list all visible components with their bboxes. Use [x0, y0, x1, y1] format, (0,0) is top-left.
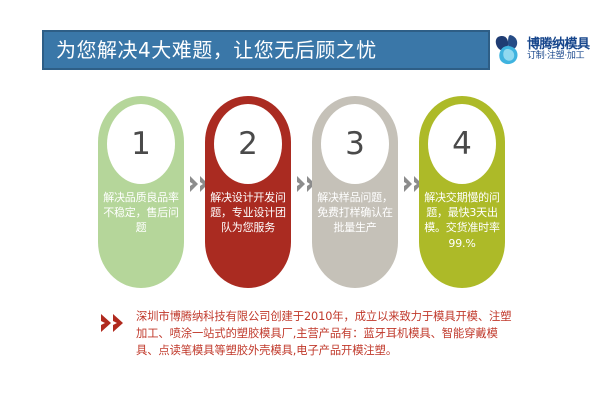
- step-pill-3: 3 解决样品问题，免费打样确认在批量生产: [312, 96, 398, 288]
- slide-canvas: 为您解决4大难题，让您无后顾之忧 博腾纳模具 订制·注塑·加工 1 解决品质良: [0, 0, 600, 400]
- double-chevron-right-icon: [100, 312, 126, 334]
- title-bar: 为您解决4大难题，让您无后顾之忧: [42, 30, 490, 70]
- step-number-2: 2: [238, 129, 258, 160]
- brand-logo: 博腾纳模具 订制·注塑·加工: [494, 28, 598, 72]
- step-card-4[interactable]: 4 解决交期慢的问题，最快3天出模。交货准时率99.%: [419, 96, 505, 288]
- step-card-1[interactable]: 1 解决品质良品率不稳定，售后问题: [98, 96, 184, 288]
- step-number-3: 3: [345, 129, 365, 160]
- logo-wordmark: 博腾纳模具 订制·注塑·加工: [527, 38, 590, 61]
- step-text-3: 解决样品问题，免费打样确认在批量生产: [317, 190, 393, 236]
- step-pill-2: 2 解决设计开发问题，专业设计团队为您服务: [205, 96, 291, 288]
- step-number-circle-2: 2: [214, 104, 282, 184]
- step-card-3[interactable]: 3 解决样品问题，免费打样确认在批量生产: [312, 96, 398, 288]
- step-card-2[interactable]: 2 解决设计开发问题，专业设计团队为您服务: [205, 96, 291, 288]
- logo-tagline: 订制·注塑·加工: [527, 52, 590, 61]
- step-text-4: 解决交期慢的问题，最快3天出模。交货准时率99.%: [424, 190, 500, 251]
- step-number-circle-1: 1: [107, 104, 175, 184]
- step-pill-1: 1 解决品质良品率不稳定，售后问题: [98, 96, 184, 288]
- page-title: 为您解决4大难题，让您无后顾之忧: [44, 40, 377, 60]
- company-intro-block: 深圳市博腾纳科技有限公司创建于2010年，成立以来致力于模具开模、注塑加工、喷涂…: [100, 308, 520, 368]
- step-pill-4: 4 解决交期慢的问题，最快3天出模。交货准时率99.%: [419, 96, 505, 288]
- step-number-circle-4: 4: [428, 104, 496, 184]
- step-number-1: 1: [131, 129, 151, 160]
- company-intro-text: 深圳市博腾纳科技有限公司创建于2010年，成立以来致力于模具开模、注塑加工、喷涂…: [136, 308, 520, 359]
- step-text-1: 解决品质良品率不稳定，售后问题: [103, 190, 179, 236]
- step-text-2: 解决设计开发问题，专业设计团队为您服务: [210, 190, 286, 236]
- butterfly-droplet-logo-icon: [494, 33, 524, 67]
- steps-row: 1 解决品质良品率不稳定，售后问题 2 解决设计开发问题，专业设计团队为您服务: [0, 96, 600, 296]
- step-number-circle-3: 3: [321, 104, 389, 184]
- step-number-4: 4: [452, 129, 472, 160]
- header: 为您解决4大难题，让您无后顾之忧: [42, 30, 490, 70]
